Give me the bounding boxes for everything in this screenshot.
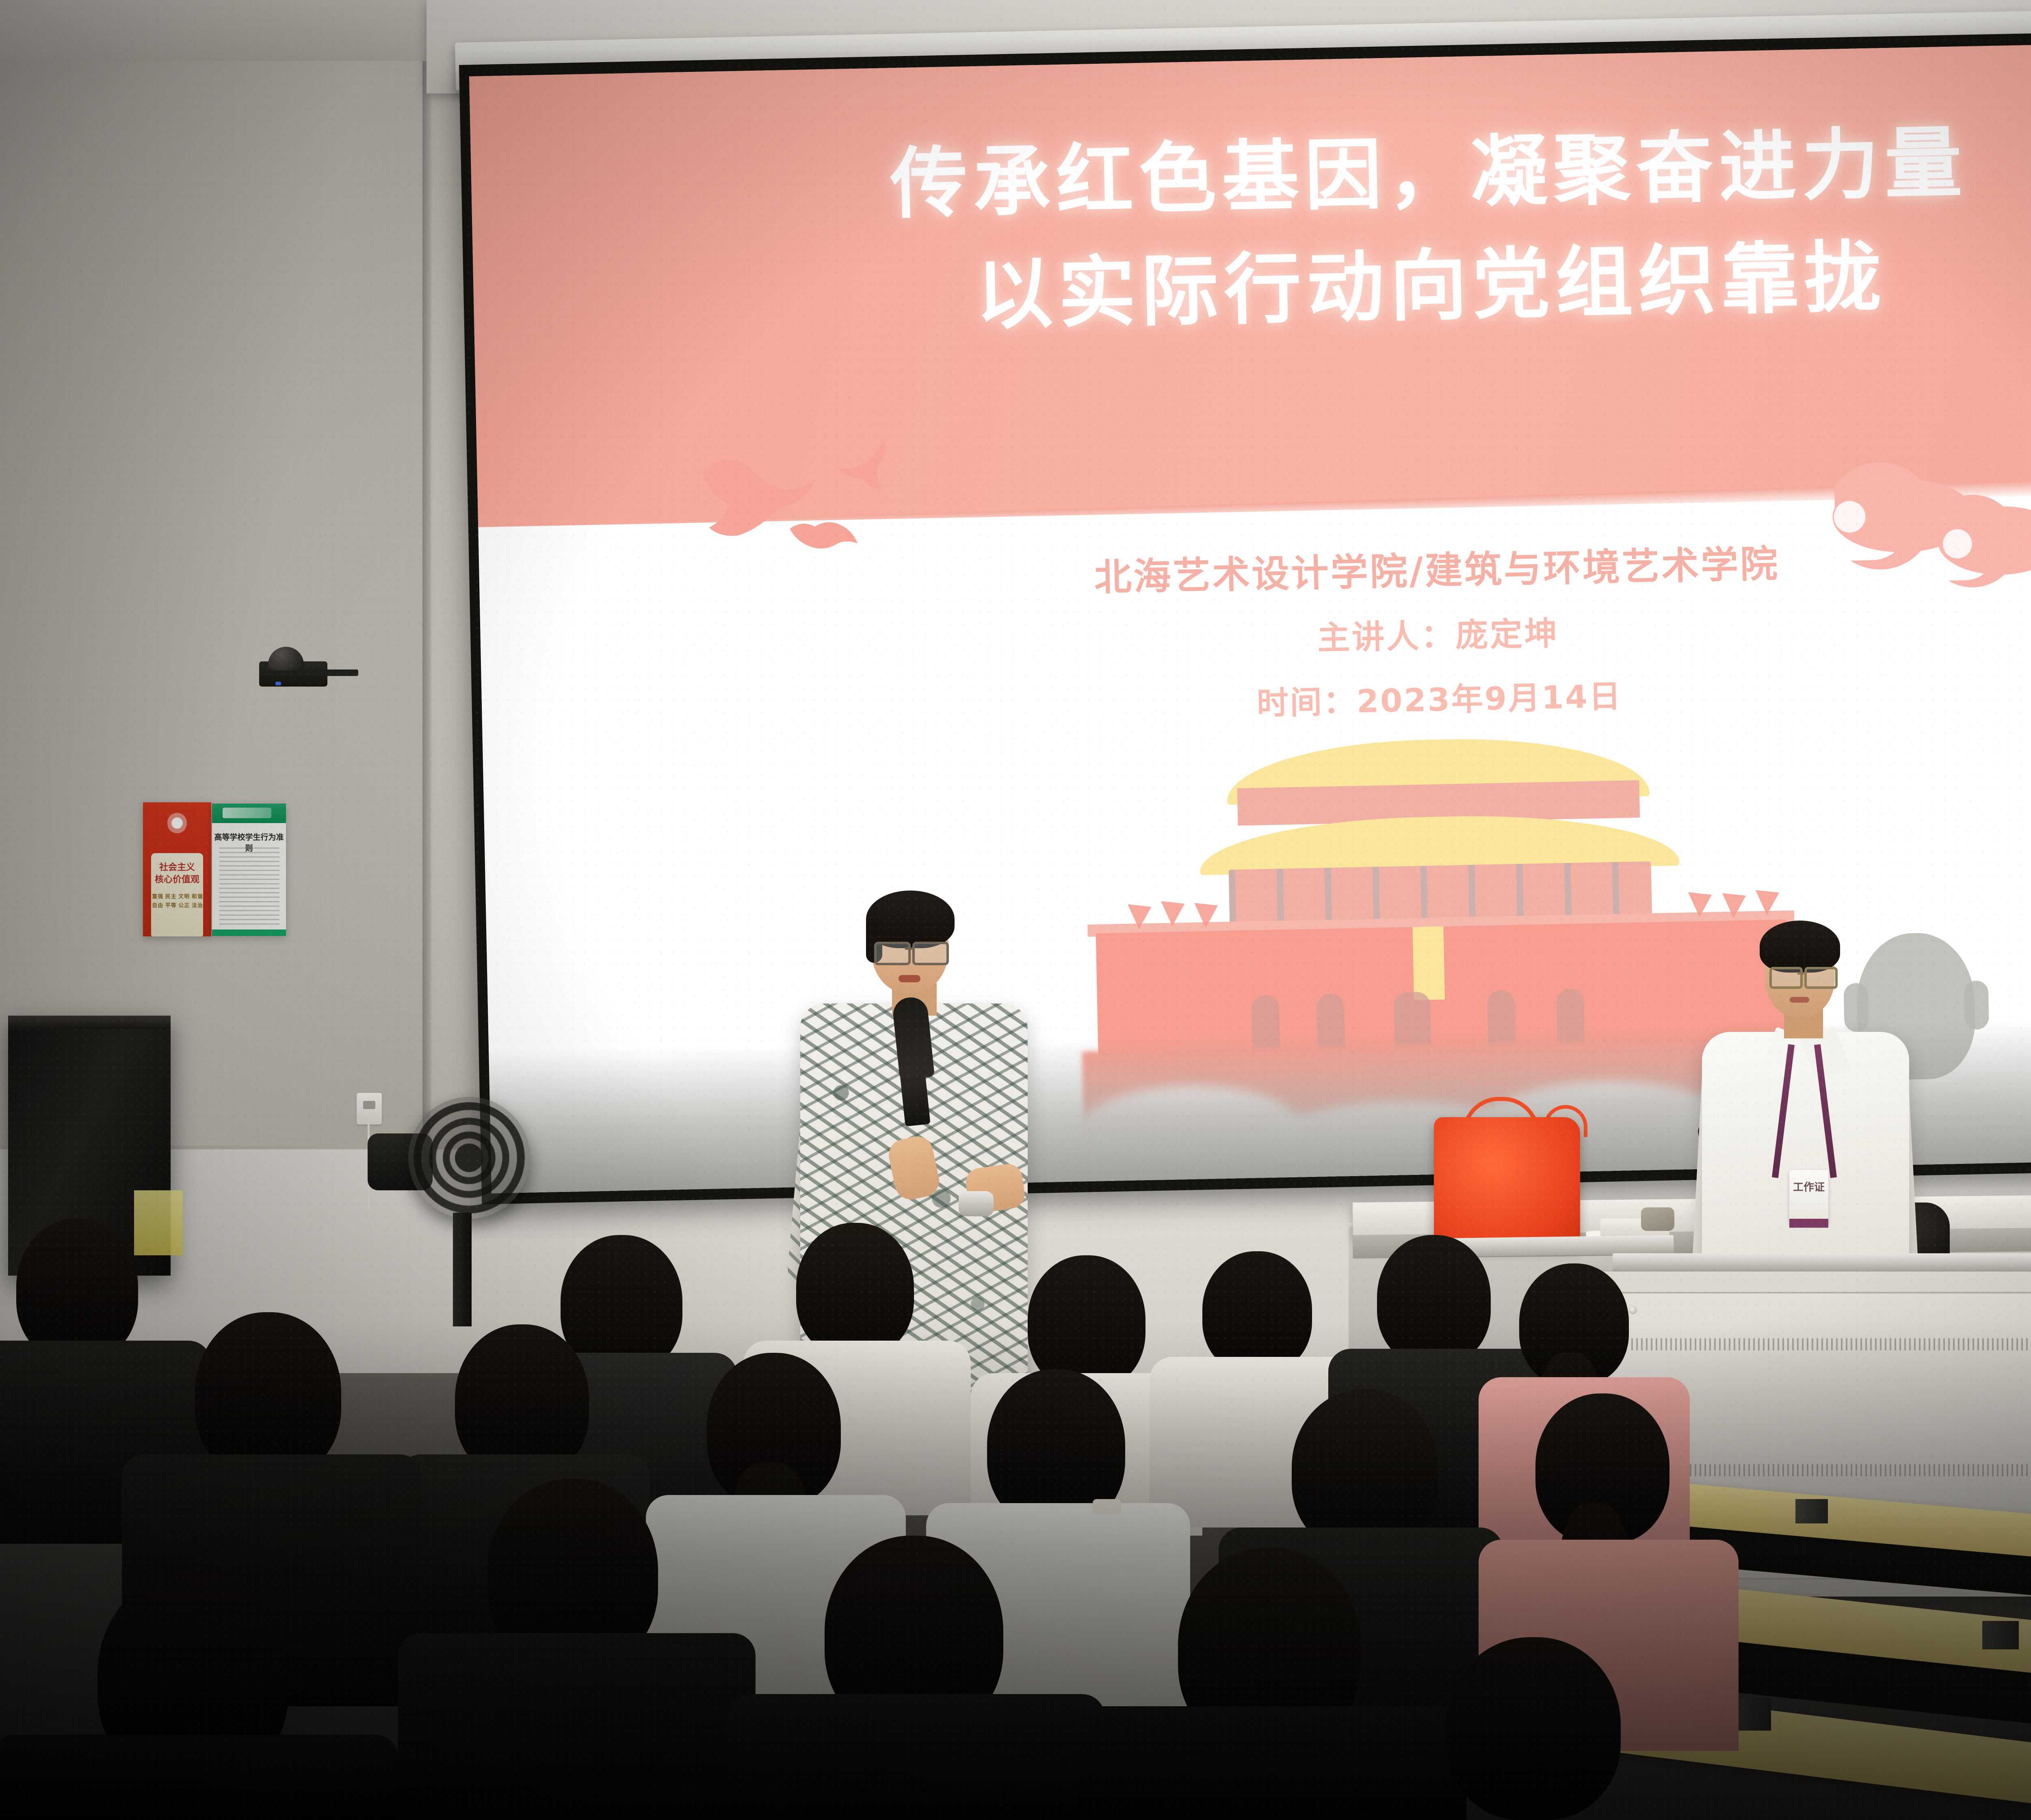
audience-head — [1377, 1235, 1491, 1365]
poster-student-code-footer — [212, 929, 286, 936]
audience-shoulders — [0, 1735, 398, 1820]
console-vent — [1631, 1464, 2031, 1476]
presenter-right-glasses-bridge — [1797, 972, 1806, 975]
hair-clip-icon — [1093, 1499, 1121, 1514]
console-screw — [1629, 1306, 1637, 1314]
console-vent — [1631, 1338, 2031, 1350]
audience-head — [796, 1223, 914, 1357]
presenter-left-glasses-bridge — [905, 947, 914, 950]
poster-emblem-icon — [167, 812, 187, 834]
audience-shoulders — [398, 1633, 756, 1820]
id-badge-strip — [1789, 1219, 1828, 1228]
desk-gray-object — [1641, 1207, 1674, 1231]
poster-student-code-body — [219, 847, 279, 925]
desk-bracket — [1982, 1621, 2019, 1649]
presenter-right-mouth — [1790, 997, 1809, 1003]
desk-bracket — [1795, 1499, 1828, 1523]
id-badge-text: 工作证 — [1789, 1181, 1828, 1194]
ptz-camera-led — [275, 682, 281, 685]
lecture-hall-photo: 传承红色基因，凝聚奋进力量 以实际行动向党组织靠拢 北海艺术设计学院/建筑与环境… — [0, 0, 2031, 1820]
presenter-right-hair — [1760, 921, 1840, 973]
audience-head — [1446, 1637, 1621, 1820]
poster-core-values-list: 富强 民主 文明 和谐 自由 平等 公正 法治 — [149, 892, 206, 910]
presenter-right-glasses-lens — [1769, 967, 1803, 989]
poster-core-values-title-2: 核心价值观 — [151, 873, 203, 886]
electric-fan-icon[interactable] — [408, 1097, 530, 1219]
presenter-left-glasses-lens — [874, 942, 911, 965]
wall-outlet-slot — [363, 1101, 375, 1109]
audience-shoulders — [727, 1694, 1105, 1820]
presenter-left-mouth — [899, 975, 920, 982]
small-wall-poster — [134, 1190, 183, 1255]
audience-head — [561, 1235, 682, 1373]
red-plastic-bag-icon[interactable] — [1434, 1117, 1580, 1247]
tiananmen-center-gate — [1412, 926, 1445, 1000]
id-badge — [1789, 1170, 1828, 1224]
audience-shoulders — [1076, 1706, 1466, 1820]
presenter-right-glasses-lens — [1804, 967, 1838, 989]
presenter-left-glasses-lens — [912, 942, 949, 965]
audience-head — [16, 1219, 138, 1361]
audience-head — [1202, 1251, 1312, 1373]
slide-title: 传承红色基因，凝聚奋进力量 以实际行动向党组织靠拢 — [470, 98, 2031, 362]
left-loudspeaker-top — [8, 1016, 171, 1029]
poster-core-values-title-1: 社会主义 — [151, 861, 203, 873]
dove-icon — [826, 433, 904, 500]
audience-head — [195, 1312, 341, 1479]
poster-school-logo-icon — [223, 808, 271, 818]
presenter-left-wristwatch — [959, 1191, 994, 1216]
fan-stand — [453, 1213, 472, 1326]
poster-core-values-title: 社会主义 核心价值观 — [151, 861, 203, 885]
